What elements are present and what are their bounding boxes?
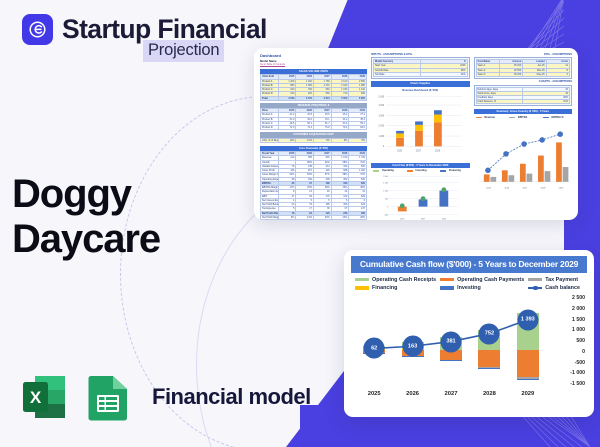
poster-canvas: Startup Financial Projection Doggy Dayca… xyxy=(0,0,600,447)
dashboard-kpi-panel: Cost NameAmountLoadedCosts Team 165 000J… xyxy=(474,57,573,79)
legend-swatch-operating-cash-payments xyxy=(440,278,454,282)
dashboard-table-kpis: Cost NameAmountLoadedCosts Team 165 000J… xyxy=(476,59,571,77)
dashboard-chart-summary: 20252026 20272028 2029 xyxy=(474,120,573,196)
legend-swatch-investing xyxy=(407,170,413,172)
svg-text:2028: 2028 xyxy=(540,187,546,189)
svg-text:2027: 2027 xyxy=(421,219,426,220)
y-axis-tick: 2 500 xyxy=(572,295,585,301)
svg-text:4 000: 4 000 xyxy=(379,105,385,107)
svg-text:2029: 2029 xyxy=(435,150,441,152)
svg-text:1 000: 1 000 xyxy=(379,136,385,138)
legend-line-cash-balance xyxy=(528,287,542,289)
cashflow-plot: 621633817521 393 2 5002 0001 5001 000500… xyxy=(351,294,587,399)
legend-label-operating-cash-payments: Operating Cash Payments xyxy=(457,277,524,283)
y-axis-tick: 1 000 xyxy=(572,327,585,333)
svg-text:2027: 2027 xyxy=(416,150,422,152)
svg-text:500: 500 xyxy=(385,199,389,201)
x-axis-tick: 2029 xyxy=(521,391,534,397)
dashboard-table-core-financials: Fiscal Year20252026202720282029 Revenue2… xyxy=(260,151,367,220)
x-axis-tick: 2027 xyxy=(445,391,458,397)
svg-text:2027: 2027 xyxy=(522,187,528,189)
data-point-label[interactable]: 1 393 xyxy=(517,309,538,330)
dashboard-chart-revenue: 0 1 000 2 000 3 000 4 000 5 000 xyxy=(371,93,470,155)
brand-subtitle-wrap: Projection xyxy=(143,40,224,62)
x-axis-tick: 2025 xyxy=(368,391,381,397)
excel-icon: X xyxy=(18,371,70,423)
dashboard-table-sales: Units Sold20252026202720282029 Product A… xyxy=(260,74,367,100)
svg-text:3 000: 3 000 xyxy=(379,115,385,117)
dashboard-cf-legend-investing: Investing xyxy=(407,169,437,172)
legend-swatch-revenue xyxy=(476,117,482,119)
svg-text:2026: 2026 xyxy=(504,187,510,189)
svg-text:0: 0 xyxy=(387,207,389,209)
legend-label-investing: Investing xyxy=(416,169,427,172)
dashboard-summary-legend-margin: EBITDA % xyxy=(543,116,573,119)
google-sheets-icon xyxy=(84,371,134,423)
legend-swatch-margin xyxy=(543,117,549,119)
dashboard-cf-legend-financing: Financing xyxy=(440,169,470,172)
y-axis-tick: -1 500 xyxy=(570,381,585,387)
excel-icon-letter: X xyxy=(30,388,42,407)
legend-swatch-ebitda xyxy=(509,117,515,119)
y-axis-tick: -1 000 xyxy=(570,370,585,376)
dashboard-input-panel: Model Currency$ Start Year2025 Growth Ra… xyxy=(371,57,470,79)
swirl-e-glyph xyxy=(28,20,47,39)
legend-item-investing: Investing xyxy=(440,285,524,291)
legend-item-operating-cash-receipts: Operating Cash Receipts xyxy=(355,277,436,283)
legend-label-financing: Financing xyxy=(372,285,397,291)
legend-label-operating: Operating xyxy=(382,169,394,172)
dashboard-wc-panel: Debtors days, days32 Stock turns, days18… xyxy=(474,85,573,107)
x-axis-tick: 2026 xyxy=(406,391,419,397)
y-axis-tick: 500 xyxy=(576,338,585,344)
legend-label-revenue: Revenue xyxy=(485,116,495,119)
legend-item-tax-payment: Tax Payment xyxy=(528,277,580,283)
legend-label-investing: Investing xyxy=(457,285,481,291)
svg-text:2 000: 2 000 xyxy=(379,125,385,127)
dashboard-toc-link[interactable]: Go to Table of Contents xyxy=(260,63,367,66)
legend-swatch-operating-cash-receipts xyxy=(355,278,369,282)
y-axis-tick: 1 500 xyxy=(572,317,585,323)
dashboard-left-column: Dashboard Model Name Go to Table of Cont… xyxy=(260,53,367,220)
format-badges: X Financial model xyxy=(18,371,311,423)
legend-label-tax-payment: Tax Payment xyxy=(545,277,578,283)
svg-text:2 000: 2 000 xyxy=(383,176,389,178)
svg-text:-500: -500 xyxy=(384,215,389,217)
x-axis-tick: 2028 xyxy=(483,391,496,397)
page-title-line-1: Doggy xyxy=(12,172,160,217)
dashboard-table-wc: Debtors days, days32 Stock turns, days18… xyxy=(476,87,571,105)
dashboard-middle-column: INPUTS - ASSUMPTIONS & KPIs Model Curren… xyxy=(371,53,470,220)
y-axis-tick: 0 xyxy=(582,349,585,355)
data-point-label[interactable]: 62 xyxy=(364,338,385,359)
cashflow-plot-area: 621633817521 393 xyxy=(355,296,547,382)
data-point-label[interactable]: 381 xyxy=(441,331,462,352)
legend-item-operating-cash-payments: Operating Cash Payments xyxy=(440,277,524,283)
dashboard-summary-legend-ebitda: EBITDA xyxy=(509,116,539,119)
cashflow-chart-card[interactable]: Cumulative Cash flow ($'000) - 5 Years t… xyxy=(344,250,594,417)
legend-label-ebitda: EBITDA xyxy=(518,116,527,119)
dashboard-grid: Dashboard Model Name Go to Table of Cont… xyxy=(260,53,572,215)
svg-text:2025: 2025 xyxy=(486,187,492,189)
brand-subtitle: Projection xyxy=(143,40,224,62)
cashflow-y-axis: 2 5002 0001 5001 0005000-500-1 000-1 500 xyxy=(547,296,585,382)
legend-label-operating-cash-receipts: Operating Cash Receipts xyxy=(372,277,436,283)
dashboard-table-price: Price20252026202720282029 Product A24.02… xyxy=(260,108,367,130)
legend-label-cash-balance: Cash balance xyxy=(545,285,580,291)
svg-text:0: 0 xyxy=(383,146,385,148)
dashboard-table-cac: CAC, % of Revenue11%10%9%9%8% xyxy=(260,138,367,143)
svg-text:2025: 2025 xyxy=(400,219,405,220)
svg-text:1 500: 1 500 xyxy=(383,183,389,185)
brand-title: Startup Financial xyxy=(62,16,267,43)
data-point-label[interactable]: 163 xyxy=(402,336,423,357)
legend-item-financing: Financing xyxy=(355,285,436,291)
format-badges-label: Financial model xyxy=(152,384,311,410)
legend-item-cash-balance: Cash balance xyxy=(528,285,580,291)
legend-swatch-investing xyxy=(440,286,454,290)
legend-swatch-financing xyxy=(355,286,369,290)
page-title: Doggy Daycare xyxy=(12,172,160,262)
data-point-label[interactable]: 752 xyxy=(479,323,500,344)
swirl-e-icon xyxy=(22,14,53,45)
legend-label-margin: EBITDA % xyxy=(552,116,564,119)
dashboard-cf-legend-operating: Operating xyxy=(373,169,403,172)
dashboard-chart-cashflow: -500 0 500 1 000 1 500 2 000 20252027202 xyxy=(371,173,470,220)
y-axis-tick: -500 xyxy=(575,360,585,366)
legend-swatch-financing xyxy=(440,170,446,172)
page-title-line-2: Daycare xyxy=(12,217,160,262)
dashboard-summary-legend-revenue: Revenue xyxy=(476,116,506,119)
cashflow-chart-legend: Operating Cash Receipts Operating Cash P… xyxy=(351,273,587,294)
svg-text:2029: 2029 xyxy=(558,187,564,189)
dashboard-preview-card[interactable]: Dashboard Model Name Go to Table of Cont… xyxy=(254,48,578,220)
dashboard-table-inputs: Model Currency$ Start Year2025 Growth Ra… xyxy=(373,59,468,77)
svg-text:2025: 2025 xyxy=(397,150,403,152)
svg-text:2029: 2029 xyxy=(442,219,447,220)
cashflow-chart-title: Cumulative Cash flow ($'000) - 5 Years t… xyxy=(351,256,587,273)
dashboard-right-column: KPIs - ASSUMPTIONS Cost NameAmountLoaded… xyxy=(474,53,573,220)
dashboard-section-header-charts: Charts Supplies xyxy=(371,81,470,86)
legend-swatch-tax-payment xyxy=(528,278,542,282)
svg-text:5 000: 5 000 xyxy=(379,96,385,98)
legend-swatch-operating xyxy=(373,170,379,172)
y-axis-tick: 2 000 xyxy=(572,306,585,312)
legend-label-financing: Financing xyxy=(449,169,461,172)
svg-text:1 000: 1 000 xyxy=(383,191,389,193)
